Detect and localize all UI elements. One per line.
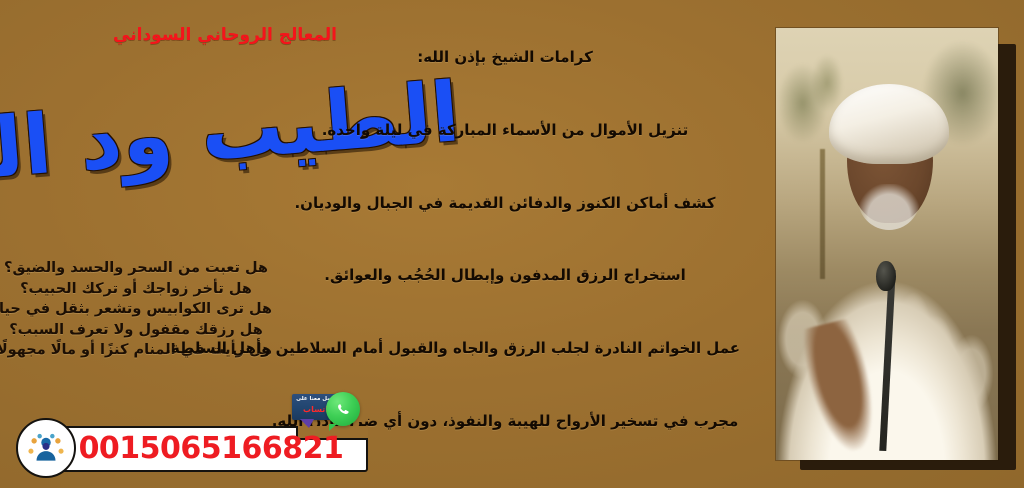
- whatsapp-icon: [334, 400, 353, 419]
- contact-badge: [16, 418, 76, 478]
- services-block: كرامات الشيخ بإذن الله: تنزيل الأموال من…: [270, 48, 740, 431]
- spacer: [270, 140, 740, 194]
- contact-bar[interactable]: 0015065166821 تواصل معنا على واتساب: [16, 418, 364, 474]
- kicker-text: المعالج الروحاني السوداني: [0, 27, 450, 44]
- phone-number[interactable]: 0015065166821: [68, 434, 354, 464]
- service-item: استخراج الرزق المدفون وإبطال الحُجُب وال…: [270, 266, 740, 285]
- service-item: عمل الخواتم النادرة لجلب الرزق والجاه وا…: [270, 339, 740, 358]
- people-group-icon: [27, 429, 65, 467]
- service-item: كشف أماكن الكنوز والدفائن القديمة في الج…: [270, 194, 740, 213]
- question-item: هل رزقك مقفول ولا تعرف السبب؟: [0, 320, 272, 341]
- whatsapp-button[interactable]: [326, 392, 360, 426]
- spacer: [270, 285, 740, 339]
- advertisement-banner: المعالج الروحاني السوداني الطيب ود النور…: [0, 0, 1024, 488]
- spacer: [270, 212, 740, 266]
- photo-background: [776, 28, 998, 460]
- service-item: تنزيل الأموال من الأسماء المباركة في ليل…: [270, 121, 740, 140]
- question-item: هل ترى الكوابيس وتشعر بثقل في حياتك؟: [0, 299, 272, 320]
- services-heading: كرامات الشيخ بإذن الله:: [270, 48, 740, 67]
- question-item: هل تأخر زواجك أو تركك الحبيب؟: [0, 279, 272, 300]
- sheikh-photo: [776, 28, 998, 460]
- microphone-icon: [876, 261, 896, 291]
- question-item: هل تعبت من السحر والحسد والضيق؟: [0, 258, 272, 279]
